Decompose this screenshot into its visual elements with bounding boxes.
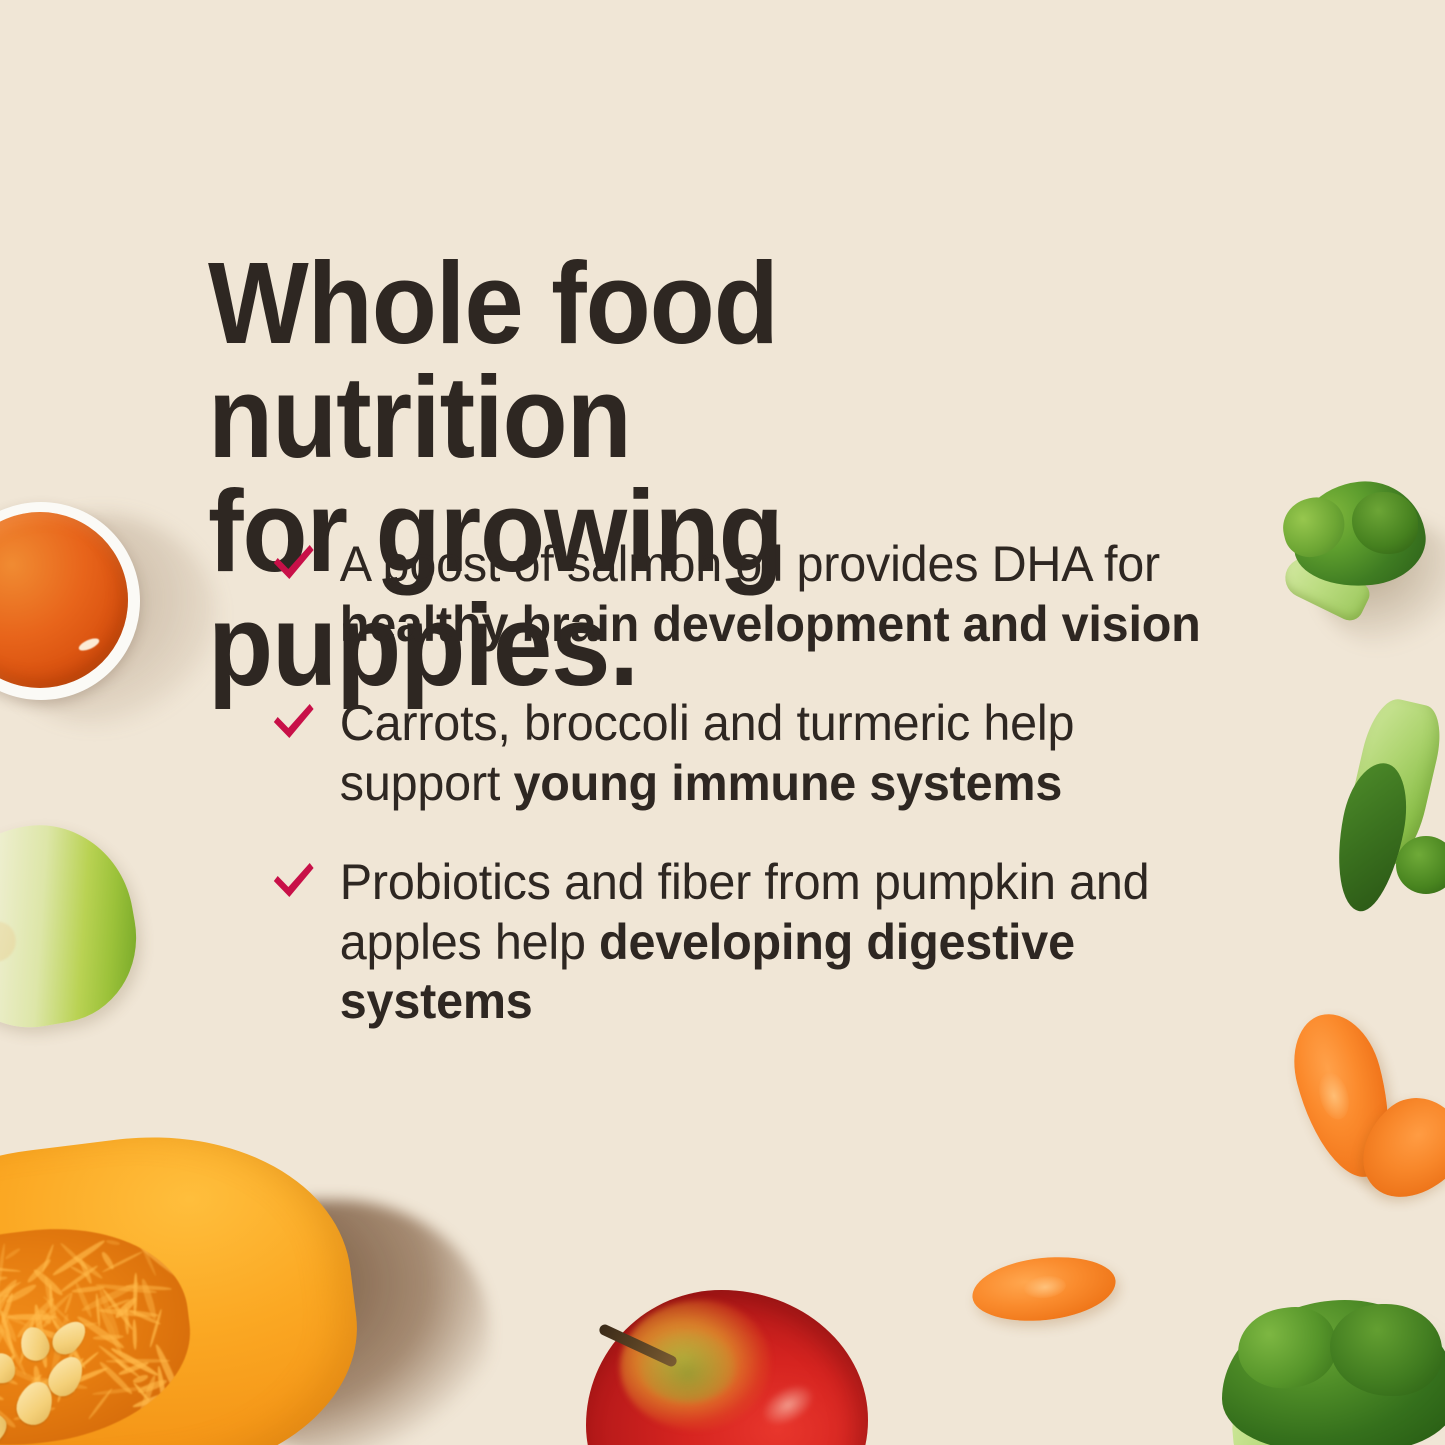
green-apple-slice — [0, 811, 150, 1042]
benefit-text-lead-1: A boost of salmon oil provides DHA for — [340, 536, 1160, 592]
pumpkin-fiber — [92, 1334, 123, 1341]
benefit-text-emphasis-1: healthy brain development and vision — [340, 596, 1201, 652]
check-icon — [270, 541, 317, 585]
pumpkin-fiber — [133, 1272, 138, 1315]
pumpkin-fiber — [132, 1319, 137, 1350]
broccoli-stalk-tuft — [1396, 836, 1445, 894]
benefit-item-2: Carrots, broccoli and turmeric help supp… — [268, 694, 1228, 813]
pumpkin-fiber — [0, 1264, 21, 1273]
pumpkin-fiber — [105, 1239, 120, 1246]
red-apple-stem-dimple — [640, 1332, 736, 1402]
benefit-item-3: Probiotics and fiber from pumpkin and ap… — [268, 853, 1228, 1032]
check-icon — [270, 859, 317, 903]
broccoli-leaf — [1326, 757, 1415, 916]
benefit-item-1: A boost of salmon oil provides DHA for h… — [268, 535, 1228, 654]
pumpkin-fiber — [4, 1247, 21, 1260]
benefit-text-emphasis-2: young immune systems — [513, 755, 1062, 811]
promo-canvas: Whole food nutrition for growing puppies… — [0, 0, 1445, 1445]
benefit-list: A boost of salmon oil provides DHA for h… — [268, 535, 1258, 1032]
pumpkin-fiber — [0, 1387, 4, 1402]
check-icon — [270, 700, 317, 744]
